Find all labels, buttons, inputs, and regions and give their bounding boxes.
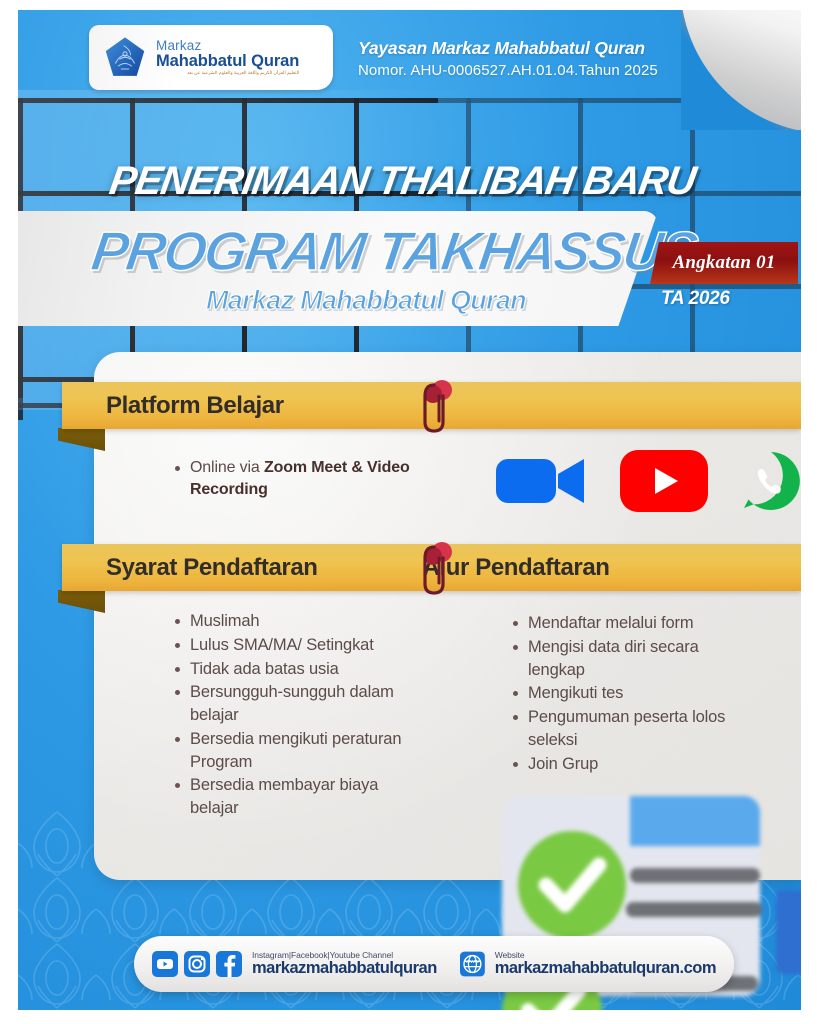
section-title-platform: Platform Belajar xyxy=(106,392,284,420)
footer-contact-bar: Instagram|Facebook|Youtube Channel marka… xyxy=(134,936,734,992)
logo-arabic-tagline: التعليم القرآن الكريم واللغة العربية وال… xyxy=(156,71,299,76)
website-text-block: Website markazmahabbatulquran.com xyxy=(495,951,716,977)
list-item: Online via Zoom Meet & Video Recording xyxy=(170,457,420,501)
youtube-icon[interactable] xyxy=(152,951,178,977)
list-item: Join Grup xyxy=(508,753,758,776)
syarat-pendaftaran-list: Muslimah Lulus SMA/MA/ Setingkat Tidak a… xyxy=(170,610,410,821)
social-icon-group xyxy=(152,951,242,977)
brand-logo-card: Markaz Mahabbatul Quran التعليم القرآن ا… xyxy=(89,25,333,90)
batch-badge: Angkatan 01 xyxy=(650,242,798,284)
list-item: Tidak ada batas usia xyxy=(170,658,410,681)
logo-line-2: Mahabbatul Quran xyxy=(156,53,299,70)
social-handle: markazmahabbatulquran xyxy=(252,960,437,977)
facebook-icon[interactable] xyxy=(216,951,242,977)
youtube-icon[interactable] xyxy=(620,450,708,512)
list-item: Pengumuman peserta lolos seleksi xyxy=(508,706,758,752)
markaz-logo-icon xyxy=(103,36,147,80)
batch-badge-label: Angkatan 01 xyxy=(672,252,775,274)
website-url[interactable]: markazmahabbatulquran.com xyxy=(495,960,716,977)
header-text-block: Yayasan Markaz Mahabbatul Quran Nomor. A… xyxy=(358,38,658,79)
title-line-3: Markaz Mahabbatul Quran xyxy=(206,285,526,316)
list-item: Mendaftar melalui form xyxy=(508,612,758,635)
logo-line-1: Markaz xyxy=(156,39,299,53)
svg-text:WWW: WWW xyxy=(466,959,480,965)
paperclip-icon-2 xyxy=(418,540,454,602)
list-item: Mengisi data diri secara lengkap xyxy=(508,636,758,682)
academic-year-label: TA 2026 xyxy=(661,288,730,310)
title-line-2: PROGRAM TAKHASSUS xyxy=(88,219,700,283)
platform-belajar-list: Online via Zoom Meet & Video Recording xyxy=(170,457,420,502)
list-item: Bersungguh-sungguh dalam belajar xyxy=(170,681,410,727)
zoom-icon[interactable] xyxy=(496,453,588,509)
poster: Markaz Mahabbatul Quran التعليم القرآن ا… xyxy=(18,10,801,1010)
paperclip-icon xyxy=(418,378,454,440)
social-text-block: Instagram|Facebook|Youtube Channel marka… xyxy=(252,951,437,977)
instagram-icon[interactable] xyxy=(184,951,210,977)
section-title-syarat: Syarat Pendaftaran xyxy=(106,554,318,582)
list-item: Muslimah xyxy=(170,610,410,633)
platform-icons xyxy=(496,450,801,512)
registration-number: Nomor. AHU-0006527.AH.01.04.Tahun 2025 xyxy=(358,62,658,79)
list-item: Mengikuti tes xyxy=(508,682,758,705)
foundation-name: Yayasan Markaz Mahabbatul Quran xyxy=(358,38,658,59)
title-line-1: PENERIMAAN THALIBAH BARU xyxy=(106,159,698,204)
list-item: Bersedia mengikuti peraturan Program xyxy=(170,728,410,774)
list-item: Bersedia membayar biaya belajar xyxy=(170,774,410,820)
list-item: Lulus SMA/MA/ Setingkat xyxy=(170,634,410,657)
globe-icon[interactable]: WWW xyxy=(460,950,485,978)
platform-item-prefix: Online via xyxy=(190,459,264,476)
alur-pendaftaran-list: Mendaftar melalui form Mengisi data diri… xyxy=(508,612,758,776)
whatsapp-icon[interactable] xyxy=(740,450,801,512)
